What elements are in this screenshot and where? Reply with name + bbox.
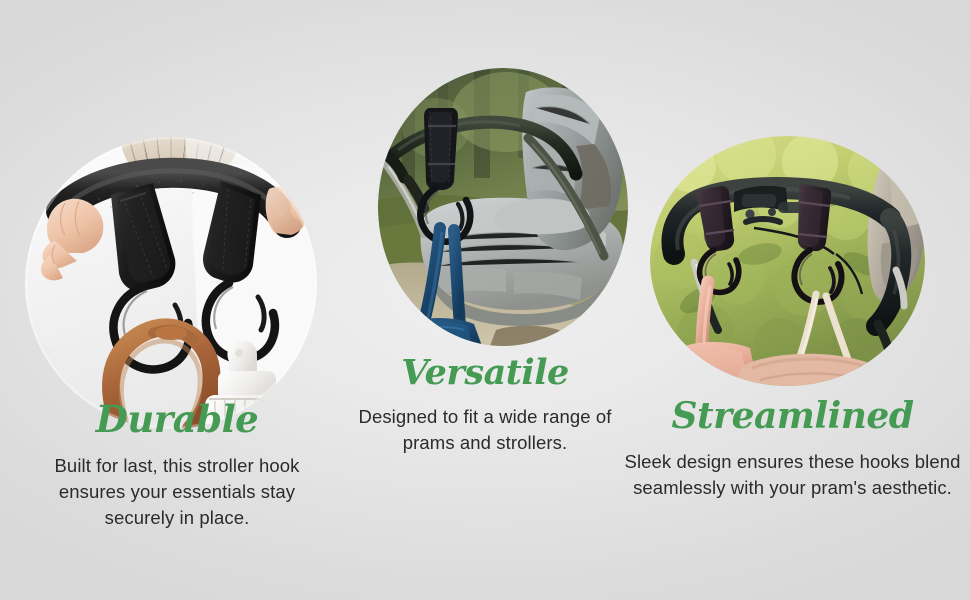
- feature-column-durable: Durable Built for last, this stroller ho…: [32, 400, 322, 532]
- feature-image-durable: [25, 137, 317, 429]
- feature-image-streamlined: [650, 136, 925, 386]
- feature-body-streamlined: Sleek design ensures these hooks blend s…: [620, 449, 965, 502]
- feature-body-durable: Built for last, this stroller hook ensur…: [32, 453, 322, 532]
- feature-heading-streamlined: Streamlined: [620, 398, 965, 436]
- feature-image-versatile: [378, 68, 628, 346]
- feature-heading-versatile: Versatile: [330, 355, 640, 392]
- feature-body-versatile: Designed to fit a wide range of prams an…: [330, 404, 640, 457]
- feature-banner: Durable Built for last, this stroller ho…: [0, 0, 970, 600]
- feature-column-streamlined: Streamlined Sleek design ensures these h…: [620, 398, 965, 501]
- feature-column-versatile: Versatile Designed to fit a wide range o…: [330, 355, 640, 456]
- feature-heading-durable: Durable: [32, 400, 322, 439]
